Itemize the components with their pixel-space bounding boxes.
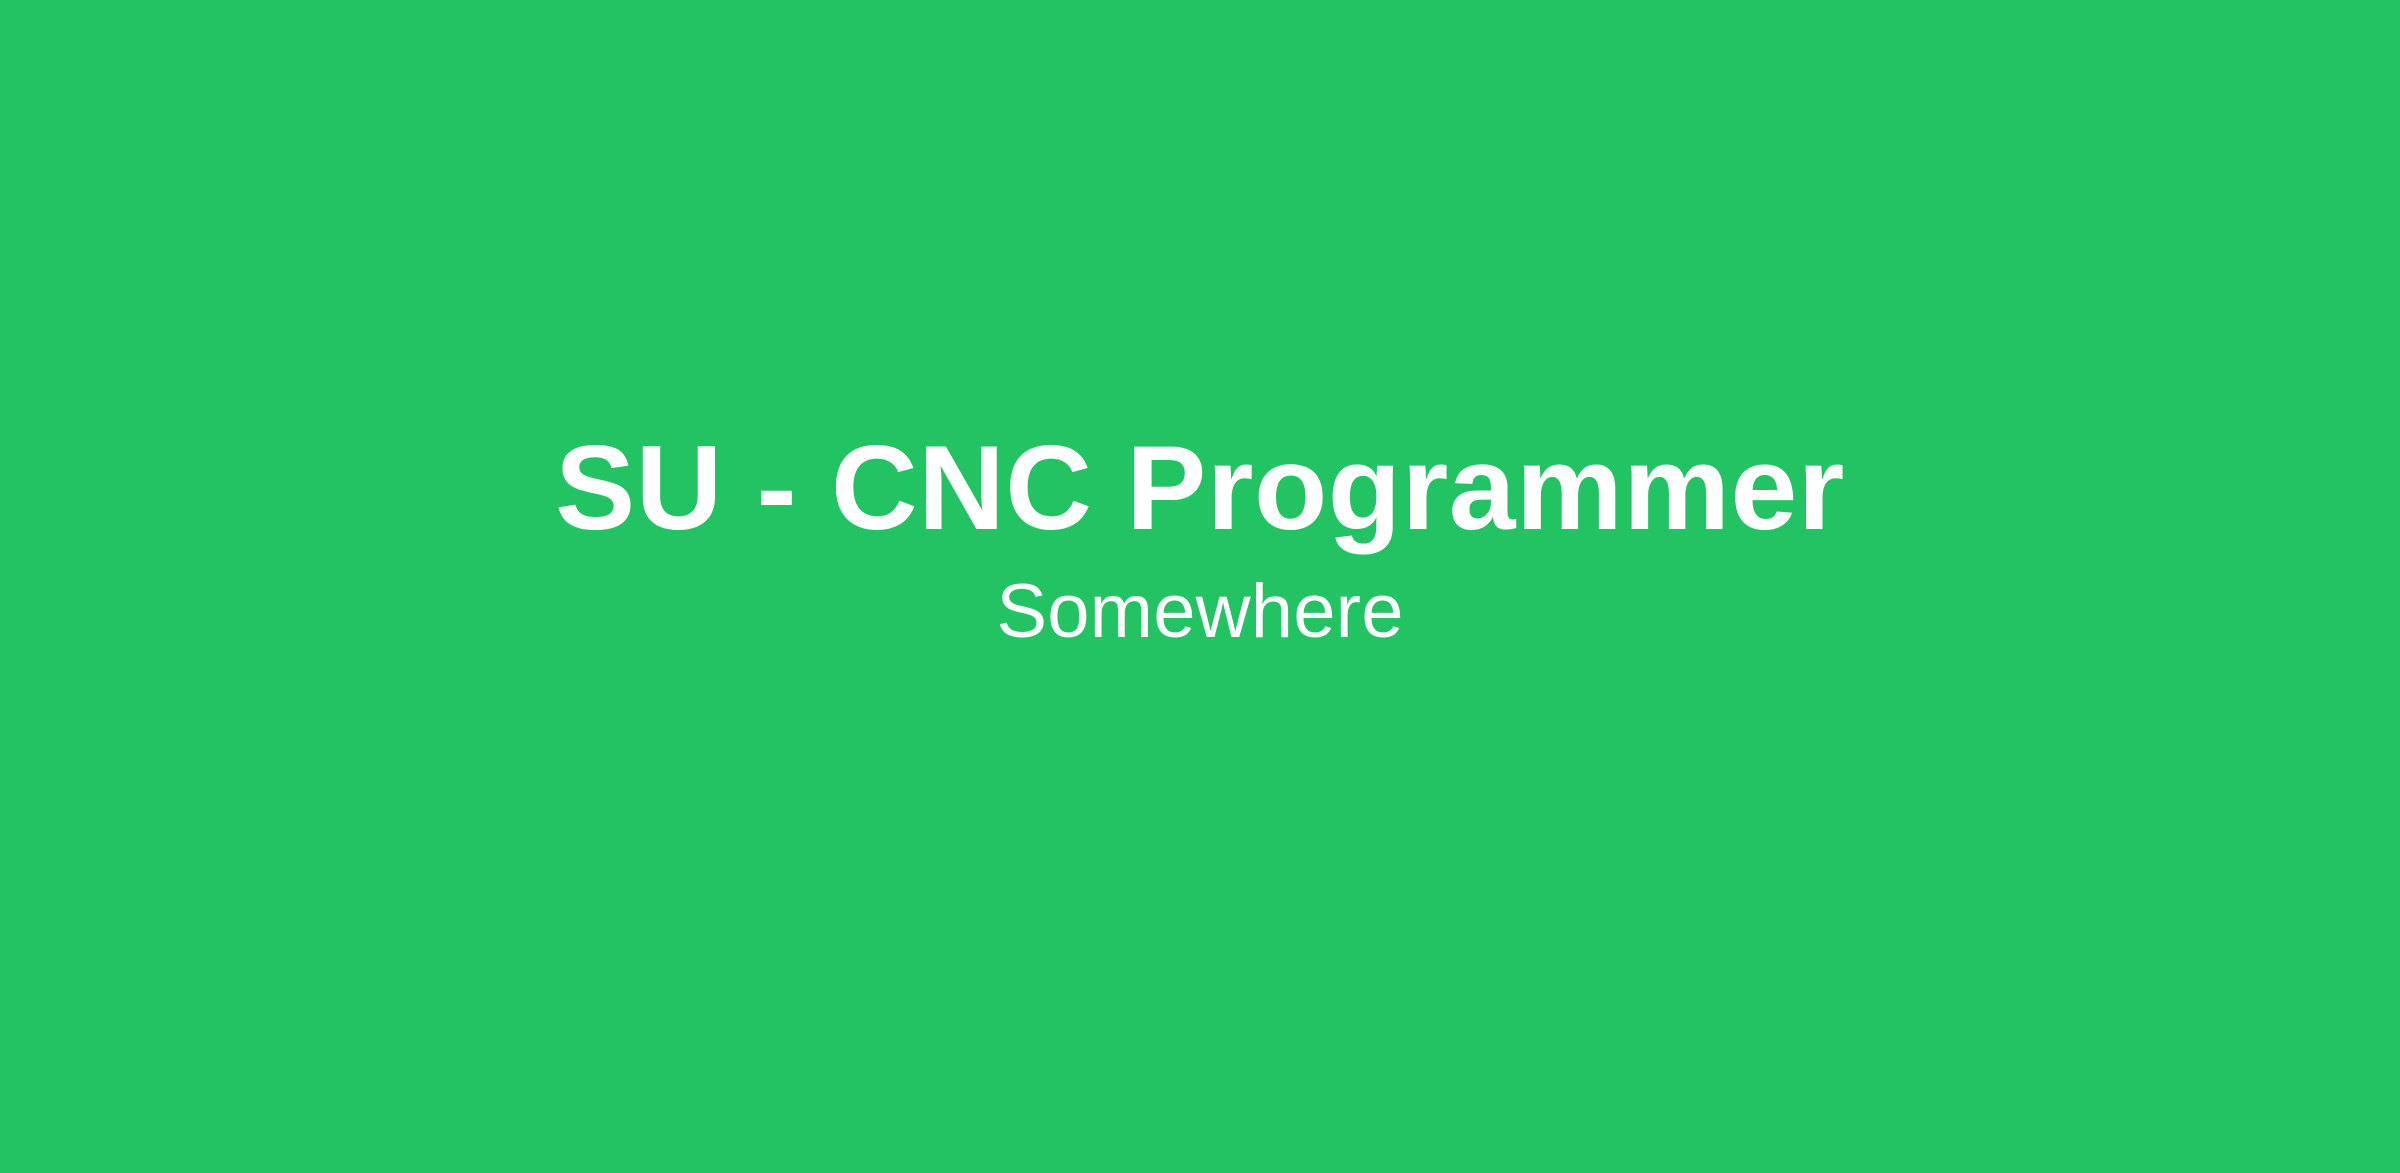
page-title: SU - CNC Programmer — [555, 428, 1845, 548]
job-banner: SU - CNC Programmer Somewhere — [0, 0, 2400, 1173]
banner-subtitle: Somewhere — [996, 574, 1403, 650]
banner-text-block: SU - CNC Programmer Somewhere — [0, 428, 2400, 650]
